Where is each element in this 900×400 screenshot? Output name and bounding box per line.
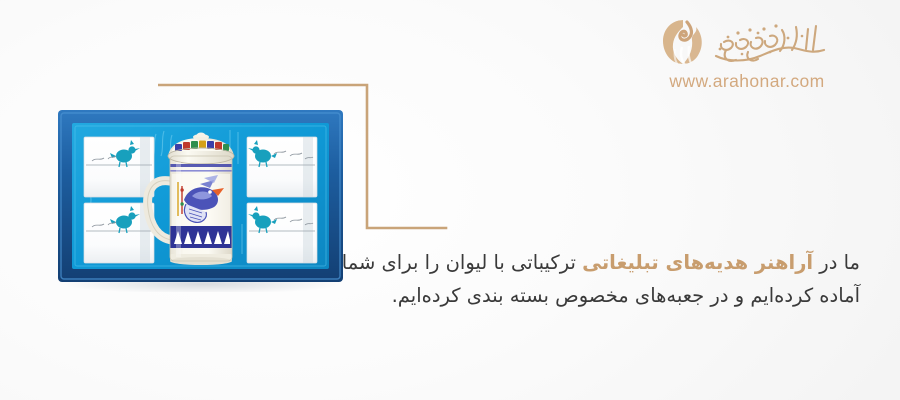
copy-line-1: ما در آراهنر هدیه‌های تبلیغاتی ترکیباتی …	[340, 246, 860, 279]
brand-logo[interactable]: www.arahonar.com	[656, 14, 838, 100]
product-image-gift-box	[52, 104, 348, 292]
copy-line-1-after: ترکیباتی با لیوان را برای شما	[342, 251, 582, 274]
copy-line-1-highlight: آراهنر هدیه‌های تبلیغاتی	[582, 251, 813, 274]
website-url[interactable]: www.arahonar.com	[669, 71, 824, 92]
promo-banner: www.arahonar.com	[0, 0, 900, 400]
copy-line-1-before: ما در	[813, 251, 860, 274]
logo-mark-row	[656, 14, 838, 70]
persian-calligraphy-wordmark-icon	[712, 16, 830, 68]
promo-copy: ما در آراهنر هدیه‌های تبلیغاتی ترکیباتی …	[340, 246, 860, 312]
copy-line-2: آماده کرده‌ایم و در جعبه‌های مخصوص بسته …	[340, 279, 860, 312]
flame-swirl-emblem-icon	[656, 15, 710, 69]
